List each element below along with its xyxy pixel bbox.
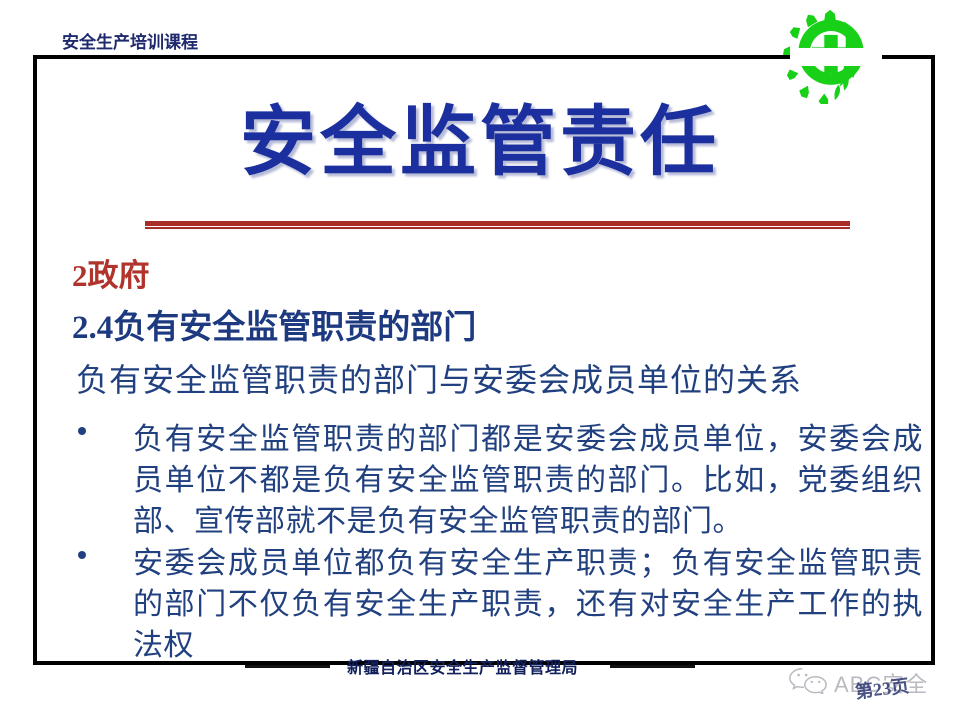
heading-level-3: 负有安全监管职责的部门与安委会成员单位的关系 (76, 355, 802, 401)
footer-organization: 新疆自治区安全生产监督管理局 (347, 654, 578, 678)
footer-rule-right (610, 665, 695, 668)
list-item-text: 安委会成员单位都负有安全生产职责；负有安全监管职责的部门不仅负有安全生产职责，还… (133, 543, 923, 666)
divider-thin-line (145, 227, 850, 229)
slide-canvas: 安全生产培训课程 (0, 0, 960, 720)
page-number: 第23页 (854, 672, 911, 704)
heading-level-2: 2.4负有安全监管职责的部门 (72, 300, 476, 348)
frame-logo-gap (790, 48, 882, 66)
bullet-dot-icon (78, 427, 86, 435)
bullet-dot-icon (78, 551, 86, 559)
list-item-text: 负有安全监管职责的部门都是安委会成员单位，安委会成员单位不都是负有安全监管职责的… (133, 419, 923, 542)
header-course-title: 安全生产培训课程 (62, 28, 198, 53)
divider-thick-line (145, 221, 850, 226)
list-item: 负有安全监管职责的部门都是安委会成员单位，安委会成员单位不都是负有安全监管职责的… (78, 419, 928, 542)
wechat-icon (788, 666, 828, 699)
page-title: 安全监管责任 (0, 104, 960, 184)
heading-level-1: 2政府 (72, 250, 150, 295)
footer-rule-left (245, 665, 330, 668)
list-item: 安委会成员单位都负有安全生产职责；负有安全监管职责的部门不仅负有安全生产职责，还… (78, 543, 928, 666)
title-divider (145, 221, 850, 229)
